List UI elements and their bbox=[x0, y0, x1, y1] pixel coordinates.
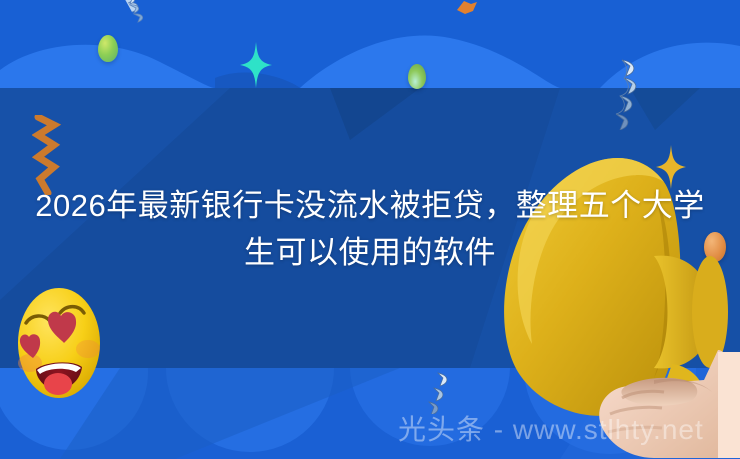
page-title: 2026年最新银行卡没流水被拒贷，整理五个大学生可以使用的软件 bbox=[0, 182, 740, 276]
promo-poster: 2026年最新银行卡没流水被拒贷，整理五个大学生可以使用的软件 光头条 - ww… bbox=[0, 0, 740, 459]
watermark-text: 光头条 - www.stlhty.net bbox=[398, 408, 704, 448]
background-band-top bbox=[0, 0, 740, 88]
